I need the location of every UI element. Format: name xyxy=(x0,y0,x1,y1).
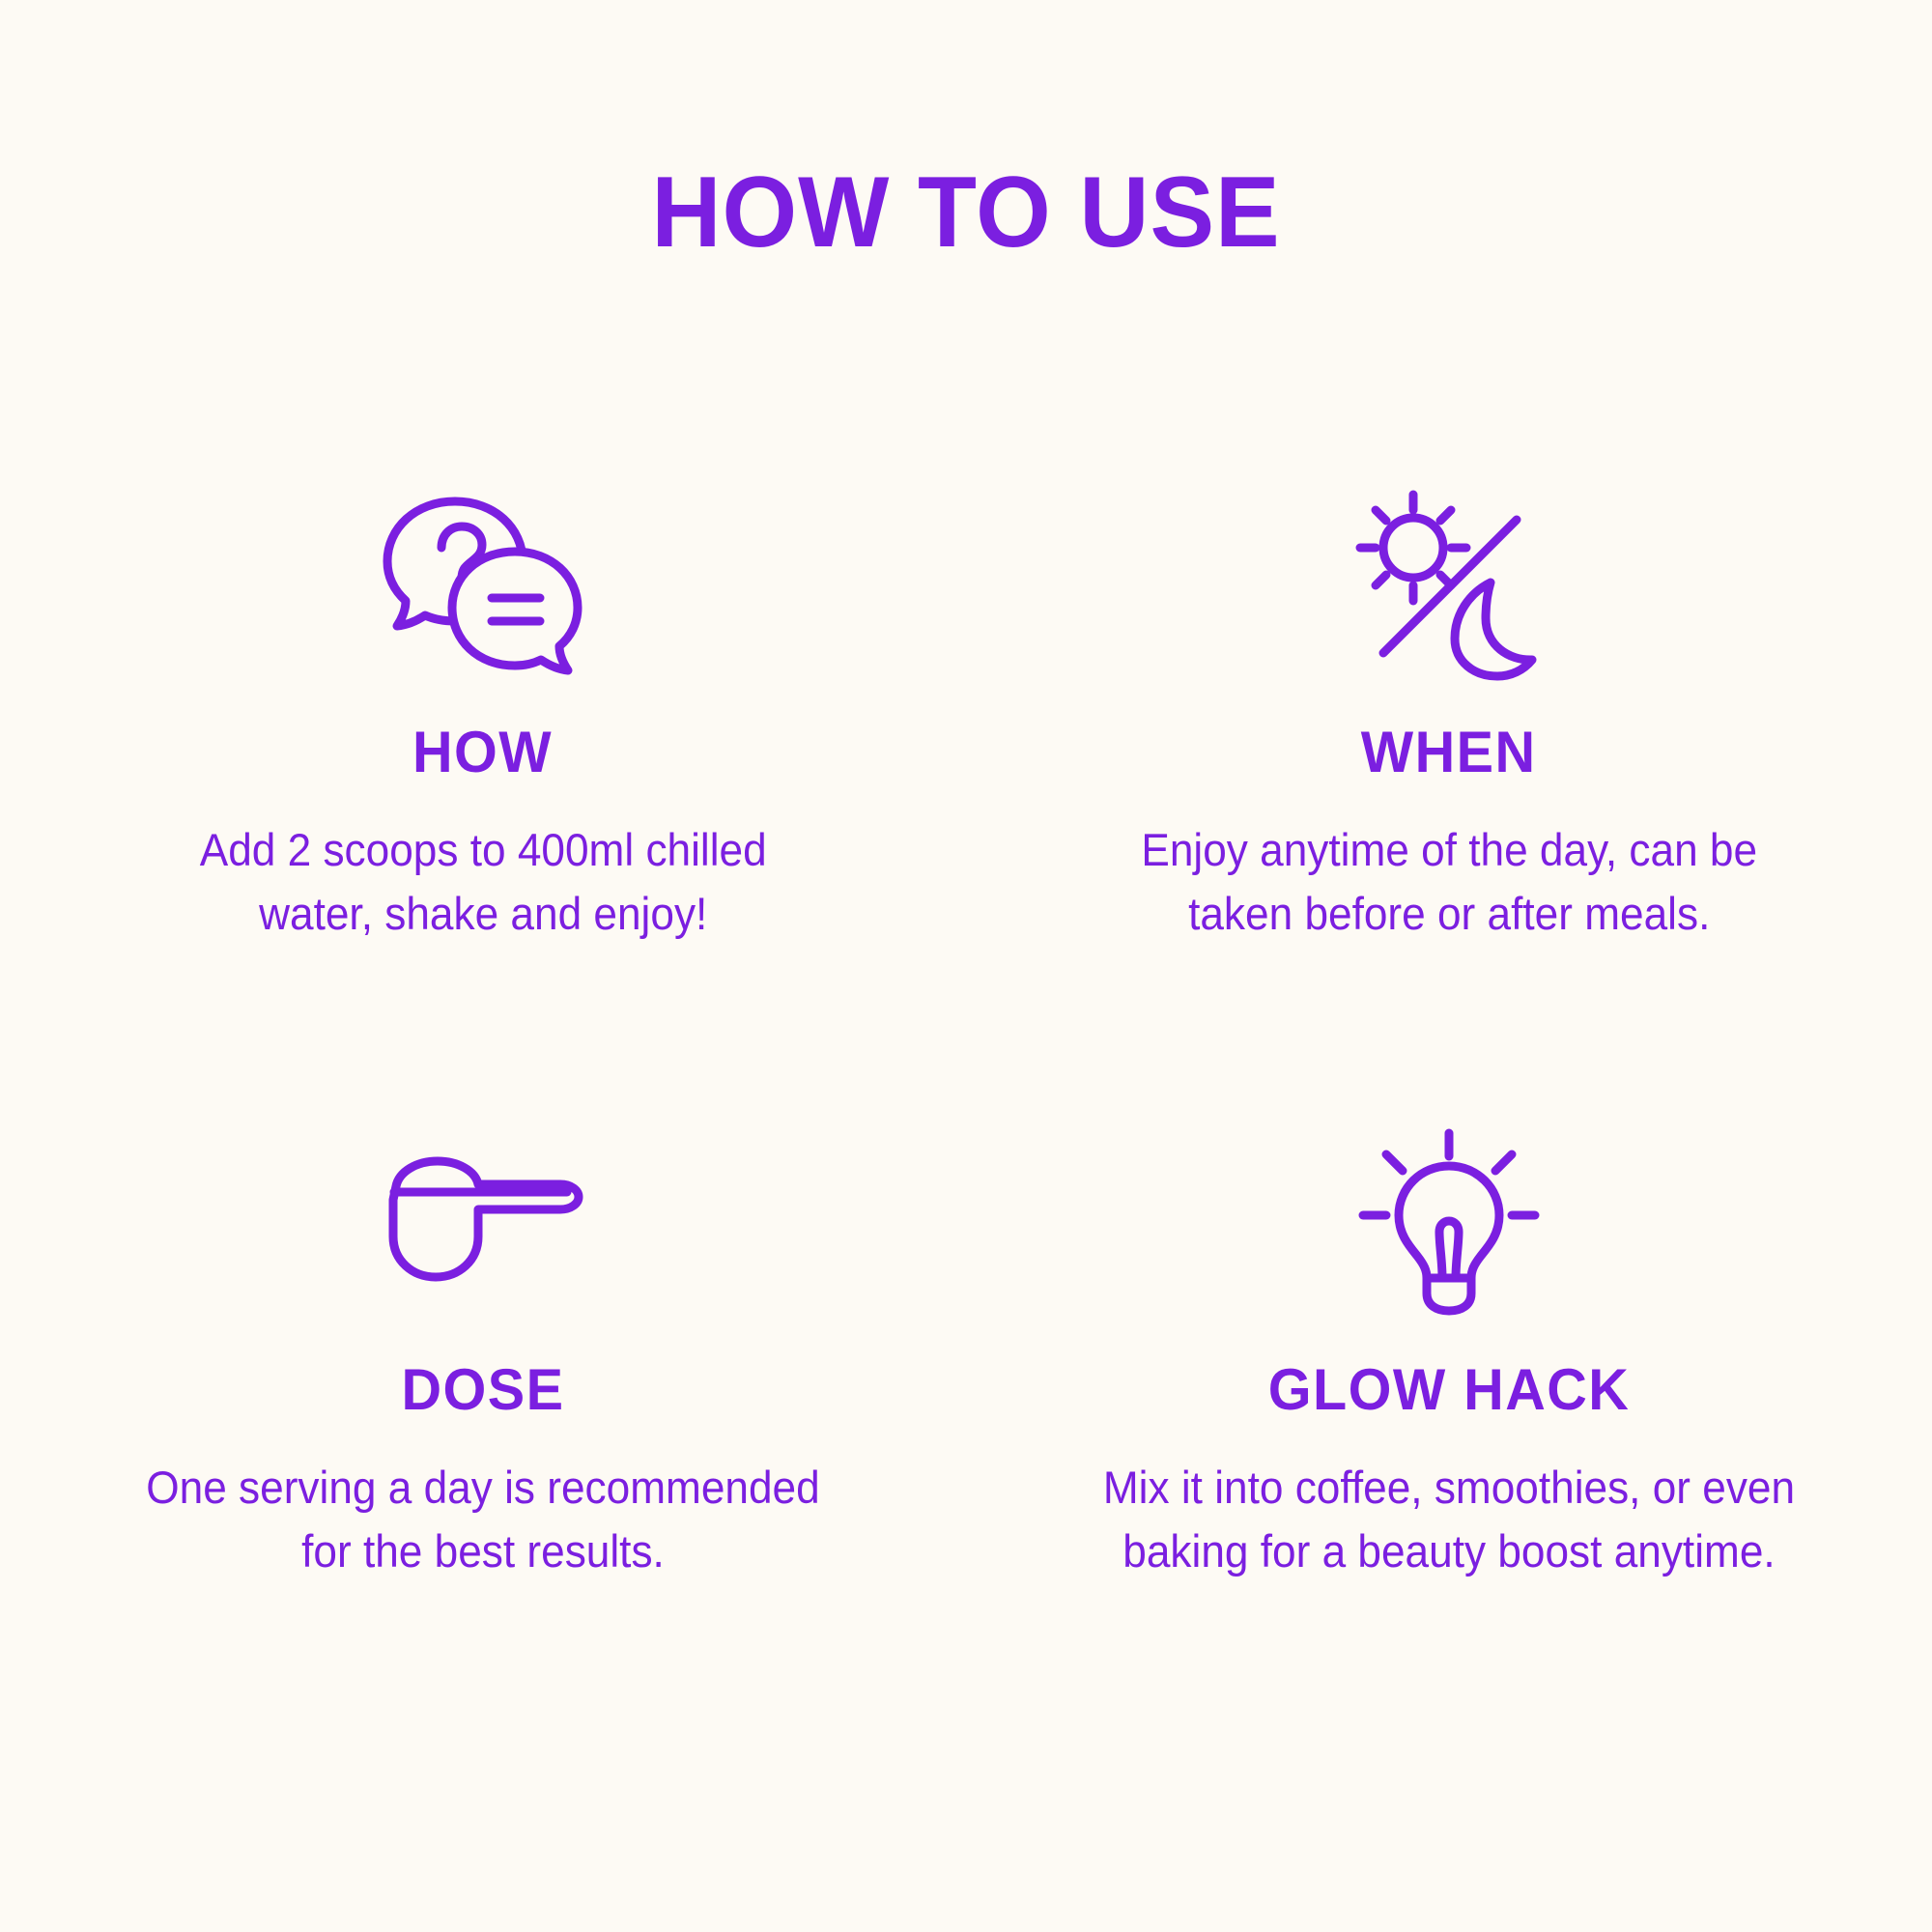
card-dose-title: DOSE xyxy=(401,1361,564,1419)
page-title: HOW TO USE xyxy=(39,162,1893,263)
card-when-title: WHEN xyxy=(1361,724,1537,781)
card-how-title: HOW xyxy=(412,724,553,781)
sun-moon-icon xyxy=(1352,483,1546,685)
card-dose: DOSE One serving a day is recommended fo… xyxy=(0,1121,966,1584)
card-how: HOW Add 2 scoops to 400ml chilled water,… xyxy=(0,483,966,947)
card-when: WHEN Enjoy anytime of the day, can be ta… xyxy=(966,483,1932,947)
card-when-body: Enjoy anytime of the day, can be taken b… xyxy=(1141,818,1757,947)
measuring-scoop-icon xyxy=(382,1121,584,1322)
card-glow-hack-title: GLOW HACK xyxy=(1268,1361,1631,1419)
card-glow-hack: GLOW HACK Mix it into coffee, smoothies,… xyxy=(966,1121,1932,1584)
instruction-grid: HOW Add 2 scoops to 400ml chilled water,… xyxy=(0,483,1932,1584)
speech-bubbles-question-icon xyxy=(380,483,587,685)
card-how-body: Add 2 scoops to 400ml chilled water, sha… xyxy=(200,818,767,947)
how-to-use-infographic: HOW TO USE HOW Add 2 scoops to 400ml chi… xyxy=(0,0,1932,1932)
card-dose-body: One serving a day is recommended for the… xyxy=(146,1456,819,1584)
lightbulb-icon xyxy=(1357,1121,1541,1322)
card-glow-hack-body: Mix it into coffee, smoothies, or even b… xyxy=(1103,1456,1795,1584)
